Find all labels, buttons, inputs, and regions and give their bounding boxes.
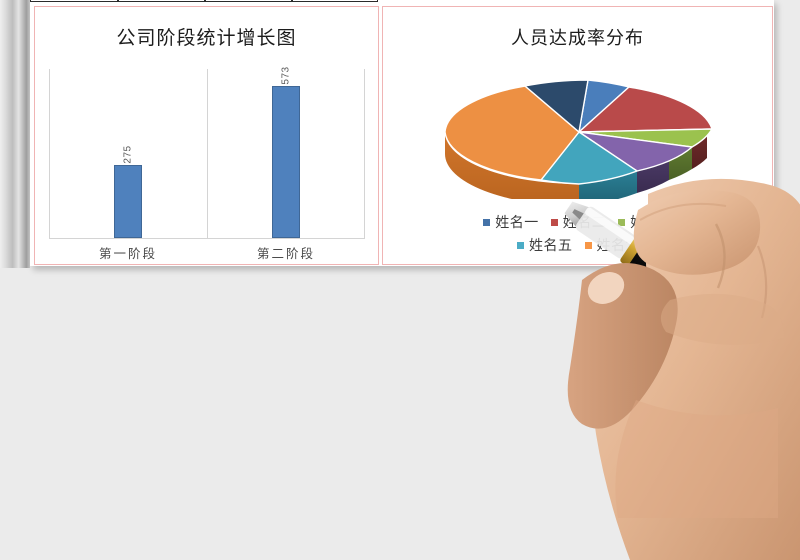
table-cell[interactable] — [205, 0, 292, 2]
axis-baseline — [49, 238, 365, 239]
category-label-1: 第一阶段 — [49, 243, 207, 262]
legend-item-5[interactable]: 姓名六 — [585, 235, 641, 255]
legend-swatch-icon — [517, 242, 524, 249]
bar-chart-title: 公司阶段统计增长图 — [35, 23, 378, 50]
table-cell[interactable] — [292, 0, 378, 2]
legend-swatch-icon — [618, 219, 625, 226]
bar-chart-plot-area: 275 573 — [49, 69, 365, 239]
legend-label-1: 姓名一 — [495, 212, 539, 232]
legend-row-2: 姓名五 姓名六 — [435, 235, 722, 255]
screenshot-stage: 公司阶段统计增长图 275 573 第一阶段 第二阶段 人员达成率分布 — [0, 0, 800, 555]
bar-column-1: 275 — [49, 68, 207, 238]
legend-swatch-icon — [483, 219, 490, 226]
pie-chart-legend: 姓名一 姓名二 姓名三 姓名五 姓名六 — [383, 212, 774, 255]
thumb — [568, 263, 678, 429]
legend-swatch-icon — [585, 242, 592, 249]
legend-label-2: 姓名二 — [563, 212, 607, 232]
legend-label-3: 姓名三 — [630, 212, 674, 232]
legend-item-3[interactable]: 姓名三 — [618, 212, 674, 232]
bar-series-2[interactable] — [272, 86, 300, 238]
bar-value-label-2: 573 — [281, 66, 292, 84]
pie-chart-3d[interactable] — [424, 59, 734, 199]
legend-label-4: 姓名五 — [529, 235, 573, 255]
bar-chart-panel[interactable]: 公司阶段统计增长图 275 573 第一阶段 第二阶段 — [34, 6, 379, 265]
table-cell[interactable] — [30, 0, 118, 2]
legend-swatch-icon — [551, 219, 558, 226]
legend-item-4[interactable]: 姓名五 — [517, 235, 573, 255]
legend-item-2[interactable]: 姓名二 — [551, 212, 607, 232]
legend-row-1: 姓名一 姓名二 姓名三 — [435, 212, 722, 232]
pie-chart-plot-area — [383, 59, 774, 199]
bar-column-2: 573 — [207, 68, 365, 238]
pie-chart-title: 人员达成率分布 — [383, 24, 772, 50]
pen-cap — [724, 305, 800, 390]
pen-cap-engraving — [733, 310, 800, 372]
bar-category-labels: 第一阶段 第二阶段 — [49, 243, 365, 262]
bar-value-label-1: 275 — [123, 145, 134, 163]
table-cell[interactable] — [118, 0, 205, 2]
thumbnail — [582, 266, 630, 310]
category-label-2: 第二阶段 — [207, 243, 365, 262]
legend-label-5: 姓名六 — [597, 235, 641, 255]
bar-series-1[interactable] — [114, 165, 142, 238]
pen-trim-band — [710, 295, 750, 341]
page-edge-shadow — [0, 0, 30, 268]
pie-chart-panel[interactable]: 人员达成率分布 — [382, 6, 773, 265]
legend-item-1[interactable]: 姓名一 — [483, 212, 539, 232]
table-fragment — [30, 0, 378, 5]
